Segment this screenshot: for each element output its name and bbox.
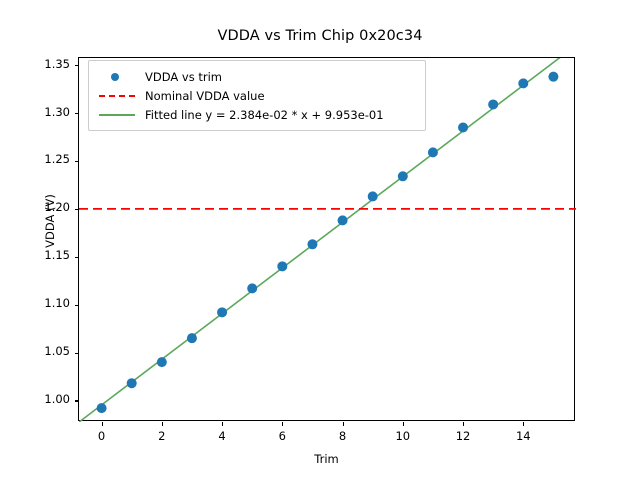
y-tick-mark [75,65,79,66]
x-tick-mark [102,422,103,426]
x-tick: 8 [343,422,344,444]
x-tick-mark [463,422,464,426]
y-tick-label: 1.10 [44,296,70,310]
legend-dashed-line-icon [97,89,137,103]
y-tick-mark [75,257,79,258]
legend-marker-icon [97,70,137,84]
legend: VDDA vs trimNominal VDDA valueFitted lin… [88,60,426,131]
x-tick: 12 [463,422,464,444]
legend-line-icon [99,114,135,116]
x-tick-label: 0 [82,429,122,443]
legend-entry: VDDA vs trim [97,67,416,86]
y-tick: 1.10 [35,305,79,306]
x-tick: 4 [222,422,223,444]
x-axis-label: Trim [78,452,575,466]
x-tick-label: 14 [503,429,543,443]
x-tick: 10 [403,422,404,444]
y-tick: 1.30 [35,113,79,114]
y-tick: 1.25 [35,161,79,162]
x-tick-label: 4 [202,429,242,443]
x-tick-mark [162,422,163,426]
chart-title: VDDA vs Trim Chip 0x20c34 [0,28,640,44]
legend-solid-line-icon [97,108,137,122]
data-point [518,78,528,88]
x-tick-mark [222,422,223,426]
x-tick-mark [523,422,524,426]
legend-dot-icon [111,73,119,81]
data-point [217,307,227,317]
y-tick-mark [75,353,79,354]
y-tick: 1.20 [35,209,79,210]
y-tick-mark [75,161,79,162]
data-point [548,72,558,82]
y-tick: 1.05 [35,353,79,354]
y-tick-label: 1.35 [44,57,70,71]
data-point [157,357,167,367]
y-tick-mark [75,400,79,401]
legend-entry: Nominal VDDA value [97,86,416,105]
x-tick: 2 [162,422,163,444]
data-point [398,171,408,181]
data-point [97,403,107,413]
x-tick-mark [343,422,344,426]
data-point [247,283,257,293]
x-tick-label: 10 [383,429,423,443]
x-tick: 0 [102,422,103,444]
matplotlib-figure: VDDA vs Trim Chip 0x20c34 1.001.051.101.… [0,0,640,480]
x-tick-label: 6 [262,429,302,443]
legend-entry-label: Fitted line y = 2.384e-02 * x + 9.953e-0… [145,108,384,122]
y-tick-label: 1.05 [44,344,70,358]
y-tick: 1.00 [35,400,79,401]
data-point [307,239,317,249]
legend-entry: Fitted line y = 2.384e-02 * x + 9.953e-0… [97,105,416,124]
x-tick-label: 12 [443,429,483,443]
y-tick-label: 1.30 [44,105,70,119]
y-tick-mark [75,113,79,114]
data-point [458,122,468,132]
legend-entry-label: VDDA vs trim [145,70,222,84]
y-tick: 1.15 [35,257,79,258]
data-point [428,147,438,157]
legend-entry-label: Nominal VDDA value [145,89,265,103]
y-axis-label: VDDA (V) [43,161,57,281]
x-tick: 6 [282,422,283,444]
legend-dash-icon [99,95,135,97]
x-tick-label: 2 [142,429,182,443]
data-point [127,378,137,388]
x-tick-mark [282,422,283,426]
data-point [277,261,287,271]
data-point [338,215,348,225]
x-tick: 14 [523,422,524,444]
x-tick-mark [403,422,404,426]
y-tick-label: 1.00 [44,392,70,406]
data-point [368,191,378,201]
y-tick-mark [75,209,79,210]
x-tick-label: 8 [323,429,363,443]
y-tick: 1.35 [35,65,79,66]
y-tick-mark [75,305,79,306]
data-point [187,333,197,343]
data-point [488,99,498,109]
